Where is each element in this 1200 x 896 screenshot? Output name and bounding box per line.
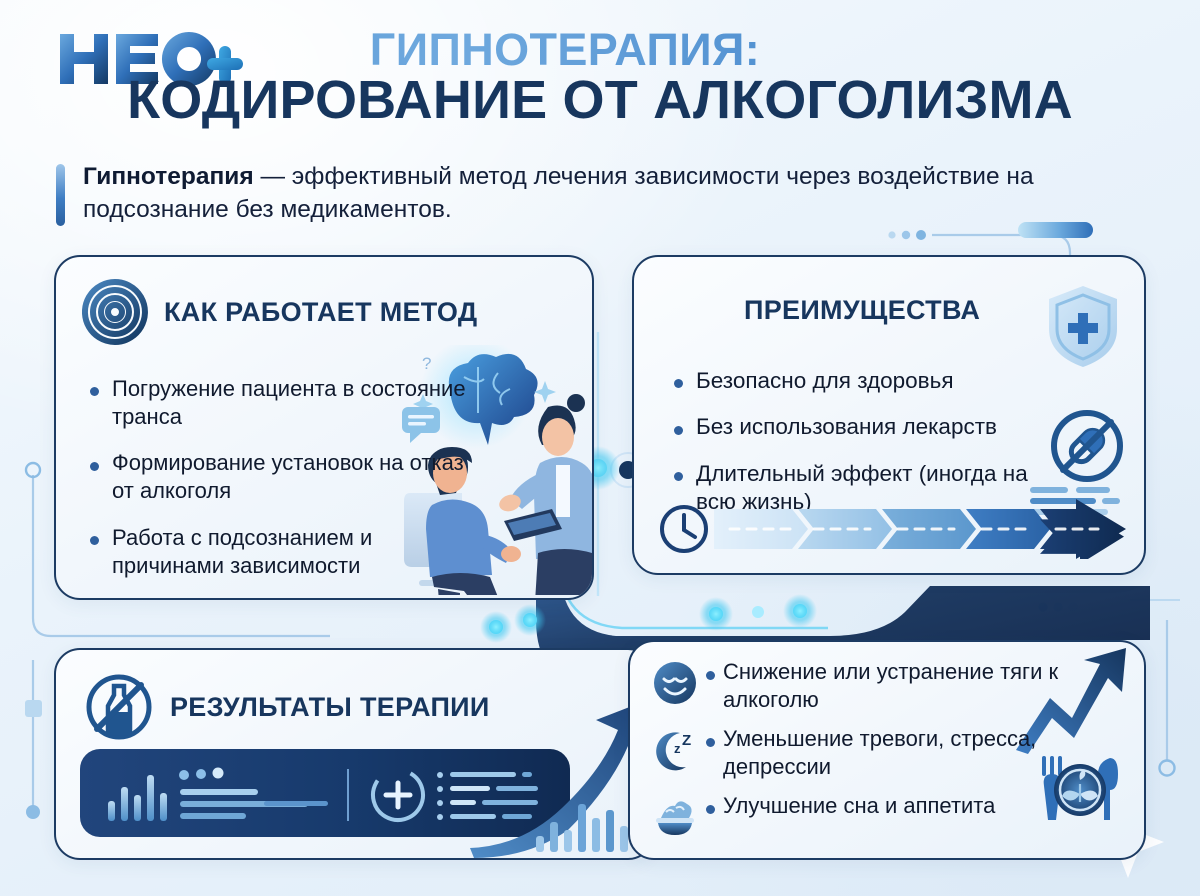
bullet-dot [706,805,715,814]
svg-text:?: ? [422,354,431,373]
card-header-results: РЕЗУЛЬТАТЫ ТЕРАПИИ [84,672,490,742]
method-bullet-list: Погружение пациента в состояние транса Ф… [86,375,486,598]
effect-text: Снижение или устранение тяги к алкоголю [723,658,1142,713]
moon-sleep-icon: z Z [652,727,698,773]
effects-list: Снижение или устранение тяги к алкоголю … [652,658,1142,852]
food-bowl-icon [652,794,698,840]
card-header-benefits: ПРЕИМУЩЕСТВА [744,295,980,325]
list-item: Снижение или устранение тяги к алкоголю [652,658,1142,713]
list-item: Работа с подсознанием и причинами зависи… [86,524,486,579]
calm-face-icon [652,660,698,706]
card-how-method-works: ? [54,255,594,600]
card-title-benefits: ПРЕИМУЩЕСТВА [744,295,980,325]
page-title: ГИПНОТЕРАПИЯ: КОДИРОВАНИЕ ОТ АЛКОГОЛИЗМА [0,26,1200,128]
bullet-dot [706,671,715,680]
intro-paragraph: Гипнотерапия — эффективный метод лечения… [56,161,1116,227]
list-item: Улучшение сна и аппетита [652,792,1142,840]
no-alcohol-bottle-icon [84,672,154,742]
list-item: Погружение пациента в состояние транса [86,375,486,430]
bullet-dot [706,738,715,747]
effect-text: Улучшение сна и аппетита [723,792,995,820]
list-item: Формирование установок на отказ от алког… [86,449,486,504]
intro-strong: Гипнотерапия [83,163,254,190]
card-benefits: ПРЕИМУЩЕСТВА [632,255,1146,575]
card-therapy-effects: Снижение или устранение тяги к алкоголю … [628,640,1146,860]
svg-text:Z: Z [682,732,691,749]
list-item: z Z Уменьшение тревоги, стресса, депресс… [652,725,1142,780]
card-title-results: РЕЗУЛЬТАТЫ ТЕРАПИИ [170,692,490,722]
svg-text:z: z [674,741,681,756]
shield-plus-icon [1046,283,1120,369]
list-item: Безопасно для здоровья [670,367,1070,395]
card-therapy-results: РЕЗУЛЬТАТЫ ТЕРАПИИ [54,648,654,860]
benefits-bullet-list: Безопасно для здоровья Без использования… [670,367,1070,534]
list-item: Длительный эффект (иногда на всю жизнь) [670,460,1070,517]
spiral-hypnosis-icon [82,279,148,345]
effect-text: Уменьшение тревоги, стресса, депрессии [723,725,1142,780]
title-line-1: ГИПНОТЕРАПИЯ: [0,26,1200,74]
title-line-2: КОДИРОВАНИЕ ОТ АЛКОГОЛИЗМА [0,72,1200,128]
infographic-poster: НЕО+ ГИПНОТЕРАПИЯ: КОДИРОВАНИЕ ОТ АЛКОГО… [0,0,1200,896]
card-title-method: КАК РАБОТАЕТ МЕТОД [164,297,477,327]
results-dashboard-panel [80,749,580,844]
card-header-method: КАК РАБОТАЕТ МЕТОД [82,279,482,345]
accent-bar [56,164,65,226]
list-item: Без использования лекарств [670,413,1070,441]
